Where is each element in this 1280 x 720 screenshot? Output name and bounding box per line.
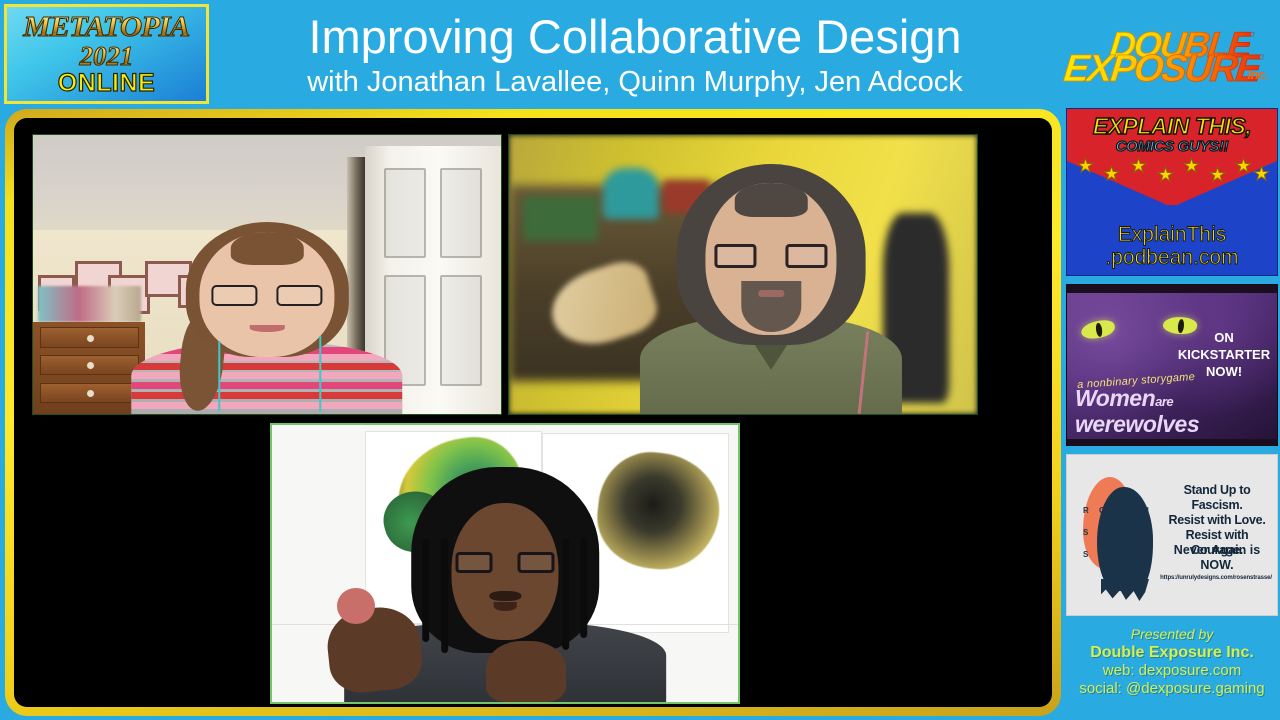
rosenstrasse-caption-line1: A STORY OF LOVE AND SURVIVAL — [1097, 615, 1170, 616]
metatopia-logo-year: 2021 — [80, 42, 134, 70]
header-bar: METATOPIA 2021 ONLINE Improving Collabor… — [0, 0, 1280, 110]
ad-rosenstrasse-tagline: Never Again is NOW. — [1163, 543, 1271, 573]
session-title-block: Improving Collaborative Design with Jona… — [218, 2, 1052, 108]
wolf-eye-left-icon — [1080, 319, 1116, 341]
rosenstrasse-headline-line2: Resist with Love. — [1168, 513, 1265, 527]
brand-logo-word-exposure: EXPOSURE — [1062, 48, 1262, 91]
ad-rosenstrasse[interactable]: ROSEN STRA SSE A STORY OF LOVE AND SURVI… — [1066, 454, 1278, 616]
video-grid — [14, 118, 1052, 707]
ad-explain-this-url[interactable]: ExplainThis .podbean.com — [1067, 223, 1277, 269]
ad-explain-this-subtitle: COMICS GUYS!! — [1067, 138, 1277, 155]
page-title: Improving Collaborative Design — [308, 11, 961, 63]
ad-rosenstrasse-url[interactable]: https://unrulydesigns.com/rosenstrasse/ — [1157, 575, 1275, 581]
metatopia-logo-line1: METATOPIA — [24, 12, 190, 42]
video-call-frame — [5, 109, 1061, 716]
ad-explain-this-url-line1: ExplainThis — [1067, 223, 1277, 246]
double-exposure-logo: DOUBLE EXPOSURE Inc. — [1058, 6, 1274, 102]
ad-explain-this[interactable]: EXPLAIN THIS, COMICS GUYS!! ★ ★ ★ ★ ★ ★ … — [1066, 108, 1278, 276]
video-tile-participant-3-active-speaker[interactable] — [270, 423, 740, 704]
sponsor-sidebar: EXPLAIN THIS, COMICS GUYS!! ★ ★ ★ ★ ★ ★ … — [1066, 108, 1278, 720]
participant-1-video — [33, 135, 501, 414]
metatopia-logo-online: ONLINE — [58, 70, 155, 96]
credit-company: Double Exposure Inc. — [1066, 643, 1278, 662]
ad-werewolves-title-line1: Women — [1075, 385, 1155, 411]
credit-presented-by: Presented by — [1066, 626, 1278, 643]
metatopia-event-logo: METATOPIA 2021 ONLINE — [4, 4, 209, 104]
credit-web: web: dexposure.com — [1066, 662, 1278, 680]
rosenstrasse-brand-letters: ROSEN STRA SSE — [1083, 505, 1161, 585]
rosenstrasse-silhouette-icon: ROSEN STRA SSE A STORY OF LOVE AND SURVI… — [1081, 477, 1155, 589]
participant-3-video — [272, 425, 738, 702]
page-subtitle: with Jonathan Lavallee, Quinn Murphy, Je… — [307, 65, 963, 99]
ad-explain-this-title: EXPLAIN THIS, — [1067, 113, 1277, 140]
ad-women-are-werewolves[interactable]: ON KICKSTARTER NOW! a nonbinary storygam… — [1066, 284, 1278, 446]
brand-logo-suffix: Inc. — [1248, 67, 1268, 82]
video-tile-participant-1[interactable] — [32, 134, 502, 415]
participant-2-video — [509, 135, 977, 414]
video-tile-participant-2[interactable] — [508, 134, 978, 415]
ad-explain-this-url-line2: .podbean.com — [1067, 246, 1277, 269]
ad-werewolves-title-are: are — [1155, 394, 1173, 409]
credit-social: social: @dexposure.gaming — [1066, 680, 1278, 698]
ad-werewolves-title: Womenare werewolves — [1075, 387, 1225, 436]
werewolf-artwork: ON KICKSTARTER NOW! a nonbinary storygam… — [1067, 293, 1277, 439]
presenter-credit: Presented by Double Exposure Inc. web: d… — [1066, 626, 1278, 698]
star-row-icon: ★ ★ ★ ★ ★ ★ ★ ★ — [1075, 157, 1271, 191]
rosenstrasse-headline-line1: Stand Up to Fascism. — [1184, 483, 1251, 512]
rosenstrasse-caption: A STORY OF LOVE AND SURVIVAL BERLIN, 193… — [1091, 615, 1177, 616]
ad-werewolves-title-line2: werewolves — [1075, 411, 1199, 437]
